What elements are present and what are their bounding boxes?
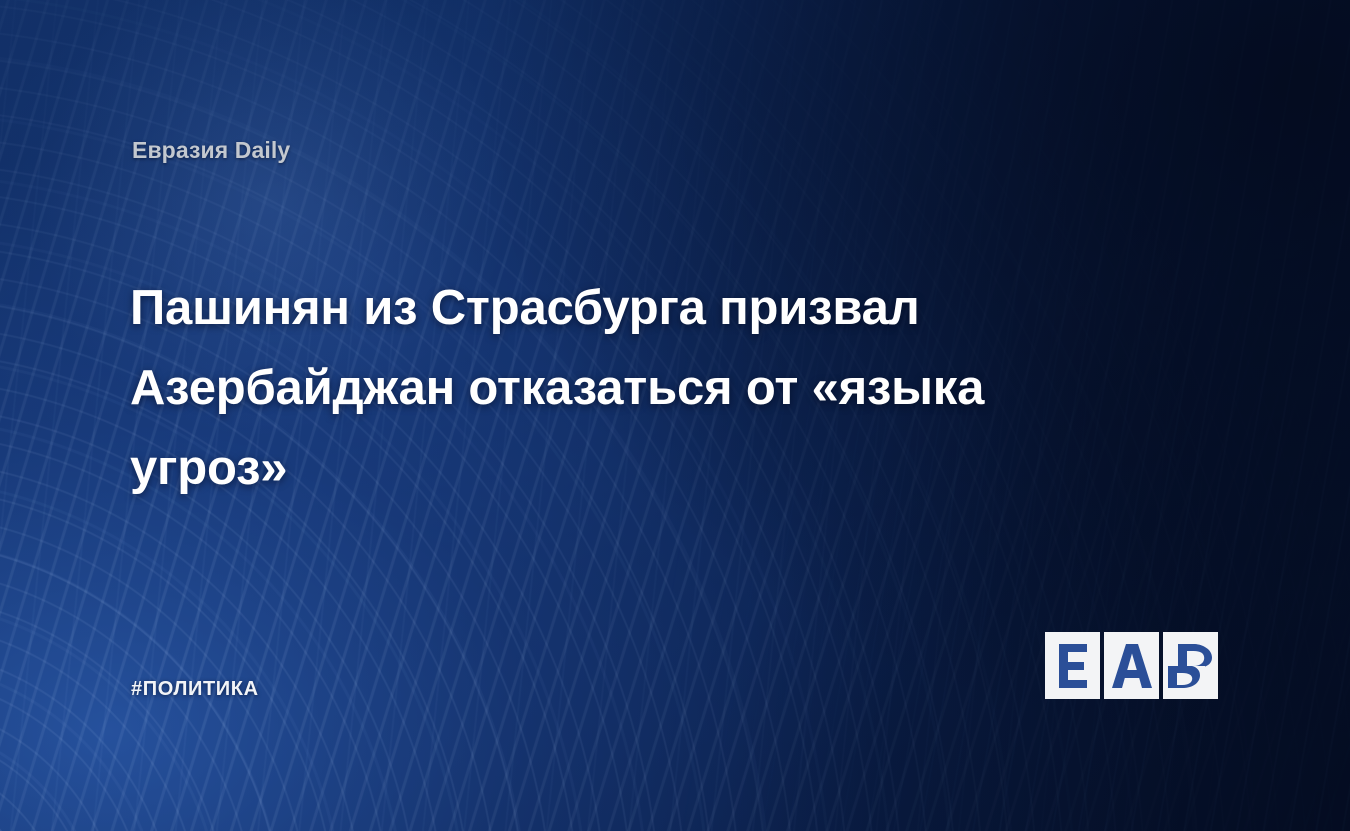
logo-tile-d-split	[1163, 632, 1218, 699]
logo-tile-e	[1045, 632, 1100, 699]
card-content: Евразия Daily Пашинян из Страсбурга приз…	[0, 0, 1350, 831]
category-hashtag: #ПОЛИТИКА	[131, 678, 259, 701]
logo-tile-a	[1104, 632, 1159, 699]
brand-name: Евразия Daily	[132, 137, 290, 164]
news-card: Евразия Daily Пашинян из Страсбурга приз…	[0, 0, 1350, 831]
eadaily-logo	[1045, 632, 1225, 700]
headline: Пашинян из Страсбурга призвал Азербайджа…	[130, 268, 1130, 508]
